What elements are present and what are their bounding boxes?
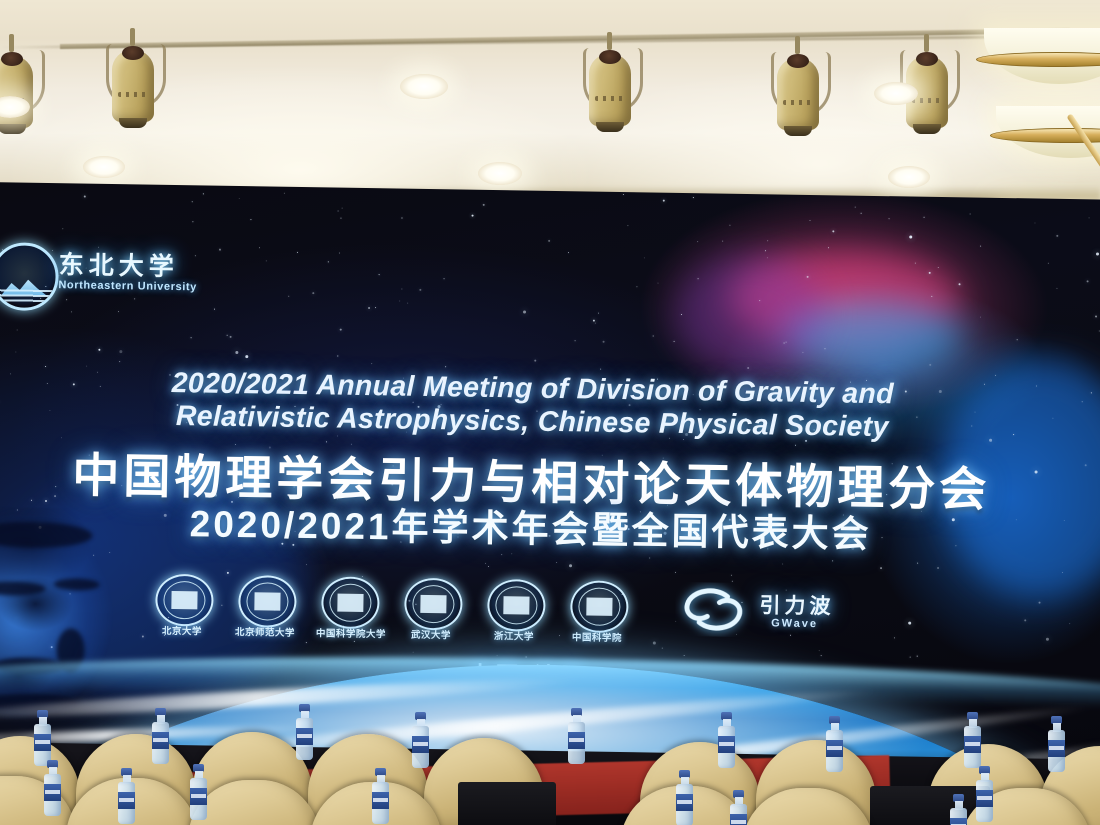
water-bottle [568,708,585,764]
conference-hall-photo: 东北大学 Northeastern University 2020/2021 A… [0,0,1100,825]
sponsor-seal-icon [404,578,463,631]
water-bottle [44,760,61,816]
sponsor-logo: 中国科学院 [570,580,633,643]
stage-spotlight [103,36,163,141]
sponsor-caption: 中国科学院大学 [316,625,380,640]
sponsor-caption: 浙江大学 [482,628,546,643]
recessed-downlight [888,166,930,188]
water-bottle [152,708,169,764]
sponsor-logo: 北京师范大学 [238,575,301,638]
water-bottle [964,712,981,768]
audience-foreground [0,690,1100,825]
stage-spotlight [0,42,42,147]
water-bottle [34,710,51,766]
gw-text-en: GWave [771,617,818,630]
water-bottle [730,790,747,825]
sponsor-seal-icon [321,576,380,629]
sponsor-seal-icon [570,580,629,633]
host-university-name-cn: 东北大学 [58,245,179,283]
water-bottle [1048,716,1065,772]
sponsor-logo: 北京大学 [155,574,218,637]
recessed-downlight [874,82,918,105]
water-bottle [190,764,207,820]
host-university-logo: 东北大学 Northeastern University [0,238,241,312]
sponsor-seal-icon [238,575,297,628]
sponsor-logo: 中国科学院大学 [321,576,384,639]
water-bottle [118,768,135,824]
sponsor-caption: 北京师范大学 [233,624,297,639]
led-backdrop-screen: 东北大学 Northeastern University 2020/2021 A… [0,182,1100,760]
recessed-downlight [83,156,125,178]
gw-text-cn: 引力波 [759,589,834,620]
water-bottle [412,712,429,768]
water-bottle [826,716,843,772]
neu-seal-icon [0,242,59,311]
recessed-downlight [478,162,522,185]
water-bottle [296,704,313,760]
recessed-downlight [400,74,448,99]
sponsor-caption: 武汉大学 [399,627,463,642]
water-bottle [950,794,967,825]
sponsor-logo: 浙江大学 [487,579,550,642]
gravitational-wave-logo: 引力波 GWave [675,580,866,647]
sponsor-caption: 中国科学院 [565,629,629,644]
equipment-case [458,782,556,825]
water-bottle [718,712,735,768]
stage-spotlight [768,44,828,149]
sponsor-seal-icon [487,579,546,632]
host-university-name-en: Northeastern University [58,279,197,293]
stage-spotlight [580,40,640,145]
sponsor-seal-icon [155,574,214,627]
water-bottle [676,770,693,825]
sponsor-logo: 武汉大学 [404,578,467,641]
water-bottle [372,768,389,824]
sponsor-logo-row: 引力波 GWave 北京大学北京师范大学中国科学院大学武汉大学浙江大学中国科学院 [155,574,856,653]
spiral-galaxy-icon [675,582,752,637]
sponsor-caption: 北京大学 [150,623,214,638]
water-bottle [976,766,993,822]
